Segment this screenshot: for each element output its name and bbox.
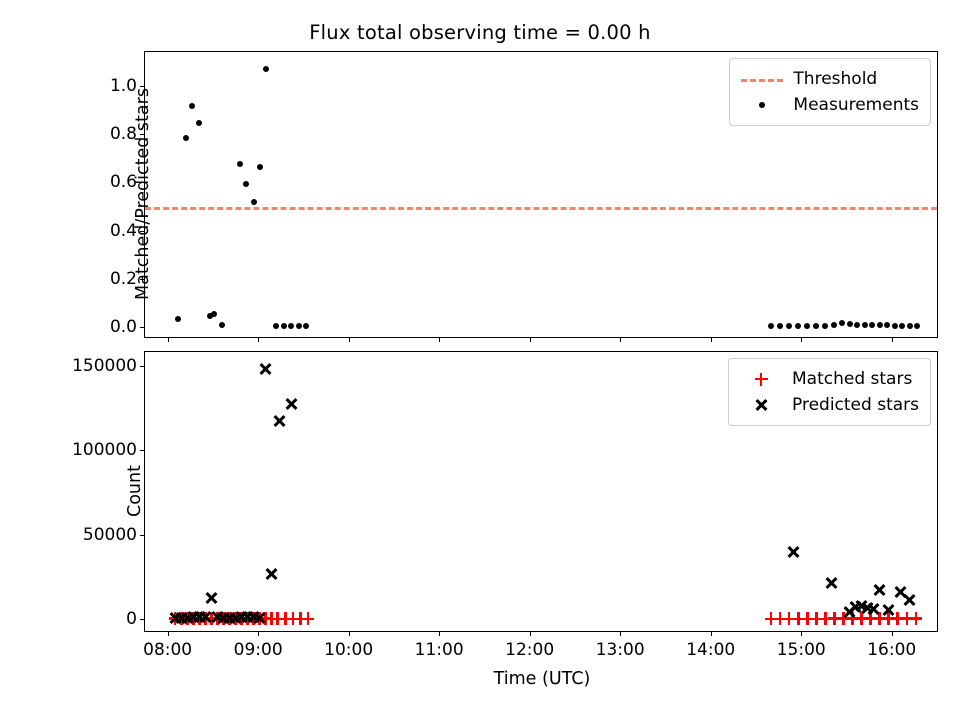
data-point-dot: [243, 181, 249, 187]
data-point-dot: [839, 320, 845, 326]
data-point-dot: [219, 322, 225, 328]
y-axis-label-bottom: Count: [125, 341, 145, 641]
data-point-dot: [303, 323, 309, 329]
data-point-dot: [777, 323, 783, 329]
data-point-dot: [183, 135, 189, 141]
data-point-dot: [877, 322, 883, 328]
x-tick-mark: [439, 631, 440, 636]
data-point-dot: [884, 322, 890, 328]
x-axis-label: Time (UTC): [145, 669, 939, 689]
x-tick-mark: [168, 631, 169, 636]
data-point-dot: [768, 323, 774, 329]
x-tick-label: 08:00: [143, 640, 192, 660]
data-point-dot: [211, 311, 217, 317]
figure-title: Flux total observing time = 0.00 h: [0, 21, 960, 44]
data-point-dot: [795, 323, 801, 329]
x-tick-mark: [711, 337, 712, 342]
x-tick-mark: [711, 631, 712, 636]
y-tick-label: 0.8: [110, 124, 137, 144]
x-tick-mark: [258, 631, 259, 636]
x-tick-mark: [530, 337, 531, 342]
x-tick-mark: [620, 631, 621, 636]
data-point-dot: [914, 323, 920, 329]
data-point-dot: [854, 322, 860, 328]
y-tick-label: 1.0: [110, 76, 137, 96]
data-point-dot: [273, 323, 279, 329]
data-point-dot: [189, 103, 195, 109]
data-point-dot: [257, 164, 263, 170]
legend-label-matched-stars: Matched stars: [792, 369, 912, 389]
y-tick-label: 0.4: [110, 221, 137, 241]
matplotlib-figure: Flux total observing time = 0.00 h Match…: [0, 0, 960, 720]
data-point-dot: [899, 323, 905, 329]
y-tick-label: 0.2: [110, 269, 137, 289]
data-point-dot: [831, 322, 837, 328]
data-point-dot: [237, 161, 243, 167]
legend-bottom: Matched stars Predicted stars: [728, 358, 931, 426]
x-tick-mark: [801, 631, 802, 636]
x-tick-label: 10:00: [324, 640, 373, 660]
x-tick-mark: [892, 631, 893, 636]
data-point-dot: [175, 316, 181, 322]
data-point-dot: [251, 199, 257, 205]
data-point-dot: [822, 323, 828, 329]
plus-marker-icon: [738, 368, 784, 390]
data-point-dot: [813, 323, 819, 329]
x-tick-mark: [620, 337, 621, 342]
cross-marker-icon: [738, 394, 784, 416]
data-point-dot: [804, 323, 810, 329]
axes-star-counts: Count 050000100000150000 08:0009:0010:00…: [144, 351, 938, 632]
data-point-dot: [288, 323, 294, 329]
y-tick-label: 0: [126, 609, 137, 629]
y-tick-label: 150000: [72, 356, 137, 376]
data-point-dot: [296, 323, 302, 329]
legend-item-predicted-stars: Predicted stars: [738, 392, 919, 418]
x-tick-label: 16:00: [867, 640, 916, 660]
x-tick-mark: [349, 337, 350, 342]
x-tick-label: 15:00: [777, 640, 826, 660]
data-point-dot: [907, 323, 913, 329]
y-tick-label: 0.6: [110, 172, 137, 192]
x-tick-label: 12:00: [505, 640, 554, 660]
data-point-dot: [281, 323, 287, 329]
x-tick-mark: [168, 337, 169, 342]
x-tick-mark: [530, 631, 531, 636]
data-point-dot: [862, 322, 868, 328]
legend-item-measurements: Measurements: [739, 92, 919, 118]
threshold-dashed-line-icon: [739, 68, 785, 90]
x-tick-label: 14:00: [686, 640, 735, 660]
measurement-dot-icon: [739, 94, 785, 116]
legend-label-threshold: Threshold: [793, 69, 877, 89]
data-point-dot: [892, 323, 898, 329]
x-tick-mark: [439, 337, 440, 342]
x-tick-mark: [258, 337, 259, 342]
x-tick-mark: [801, 337, 802, 342]
legend-top: Threshold Measurements: [729, 58, 931, 126]
x-tick-label: 13:00: [596, 640, 645, 660]
threshold-line: [145, 207, 937, 210]
axes-matched-predicted-ratio: Matched/Predicted stars 0.00.20.40.60.81…: [144, 51, 938, 338]
legend-label-measurements: Measurements: [793, 95, 919, 115]
data-point-dot: [786, 323, 792, 329]
y-tick-label: 100000: [72, 440, 137, 460]
data-point-dot: [196, 120, 202, 126]
legend-item-threshold: Threshold: [739, 66, 919, 92]
y-tick-label: 0.0: [110, 317, 137, 337]
x-tick-mark: [349, 631, 350, 636]
x-tick-label: 11:00: [415, 640, 464, 660]
x-tick-label: 09:00: [234, 640, 283, 660]
data-point-dot: [847, 321, 853, 327]
data-point-dot: [263, 66, 269, 72]
legend-label-predicted-stars: Predicted stars: [792, 395, 919, 415]
y-tick-label: 50000: [83, 525, 137, 545]
x-tick-mark: [892, 337, 893, 342]
data-point-dot: [869, 322, 875, 328]
legend-item-matched-stars: Matched stars: [738, 366, 919, 392]
